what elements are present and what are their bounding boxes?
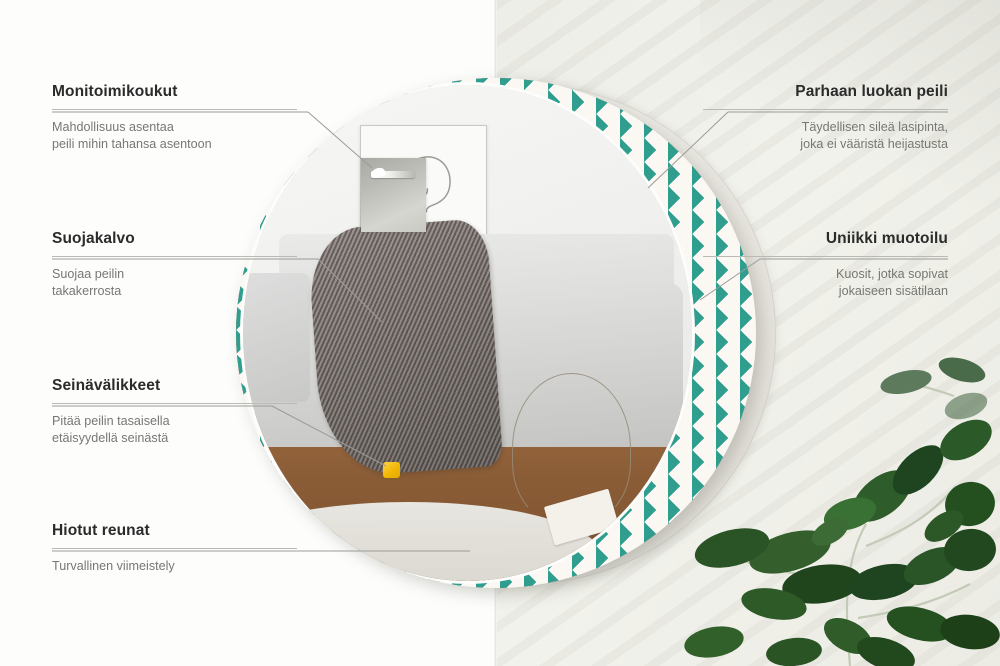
callout-description: Turvallinen viimeistely xyxy=(52,558,297,575)
callout-description: Mahdollisuus asentaa peili mihin tahansa… xyxy=(52,119,297,153)
yellow-spacer xyxy=(383,462,400,478)
callout-title: Parhaan luokan peili xyxy=(703,83,948,101)
callout-description: Täydellisen sileä lasipinta, joka ei vää… xyxy=(703,119,948,153)
callout-multifunction-hooks: Monitoimikoukut Mahdollisuus asentaa pei… xyxy=(52,83,297,153)
callout-polished-edges: Hiotut reunat Turvallinen viimeistely xyxy=(52,522,297,575)
callout-title: Hiotut reunat xyxy=(52,522,297,540)
wall-mount-plate xyxy=(361,158,426,232)
callout-rule xyxy=(52,403,297,404)
callout-description: Suojaa peilin takakerrosta xyxy=(52,266,297,300)
callout-title: Suojakalvo xyxy=(52,230,297,248)
callout-title: Monitoimikoukut xyxy=(52,83,297,101)
mount-hook-slot xyxy=(371,171,415,178)
mirror-glass xyxy=(243,85,692,581)
callout-rule xyxy=(52,109,297,110)
infographic-canvas: Monitoimikoukut Mahdollisuus asentaa pei… xyxy=(0,0,1000,666)
callout-rule xyxy=(703,256,948,257)
callout-rule xyxy=(52,548,297,549)
callout-best-in-class-mirror: Parhaan luokan peili Täydellisen sileä l… xyxy=(703,83,948,153)
callout-wall-spacers: Seinävälikkeet Pitää peilin tasaisella e… xyxy=(52,377,297,447)
callout-description: Pitää peilin tasaisella etäisyydellä sei… xyxy=(52,413,297,447)
callout-rule xyxy=(52,256,297,257)
reflected-knit-throw xyxy=(306,218,502,478)
callout-rule xyxy=(703,109,948,110)
callout-protective-film: Suojakalvo Suojaa peilin takakerrosta xyxy=(52,230,297,300)
callout-unique-design: Uniikki muotoilu Kuosit, jotka sopivat j… xyxy=(703,230,948,300)
plant-foliage xyxy=(670,336,1000,666)
callout-description: Kuosit, jotka sopivat jokaiseen sisätila… xyxy=(703,266,948,300)
callout-title: Uniikki muotoilu xyxy=(703,230,948,248)
leaf-cluster xyxy=(682,353,1000,666)
callout-title: Seinävälikkeet xyxy=(52,377,297,395)
